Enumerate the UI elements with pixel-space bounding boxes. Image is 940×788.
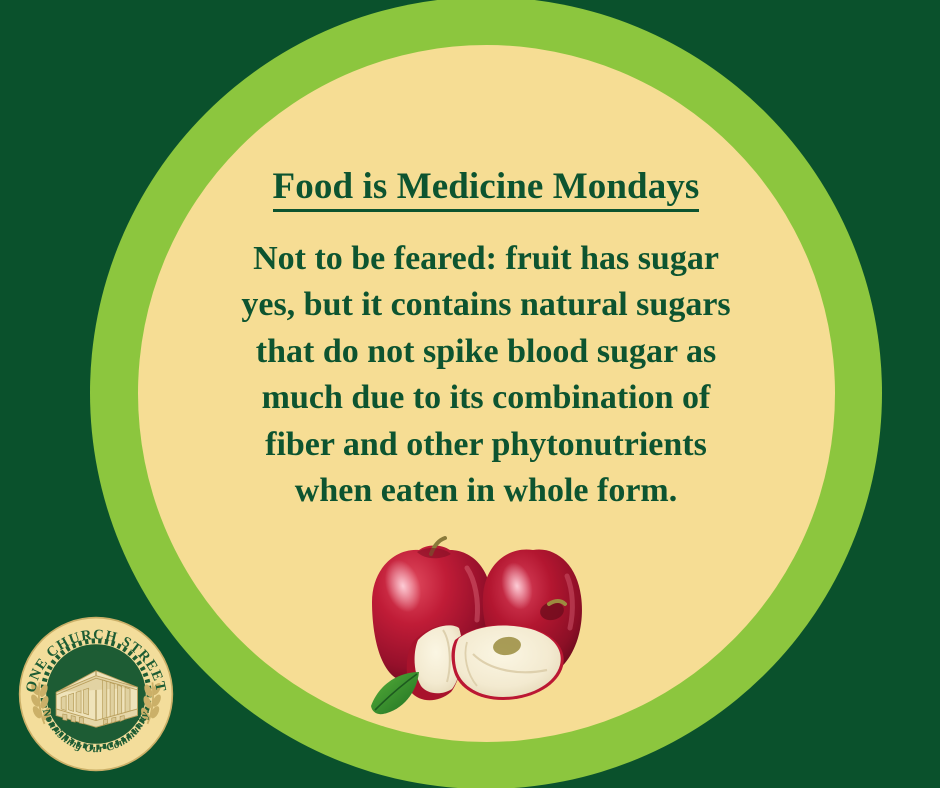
social-media-poster: Food is Medicine Mondays Not to be feare… [0,0,940,788]
apples-photo [355,524,625,724]
page-title: Food is Medicine Mondays [273,168,700,212]
body-line: that do not spike blood sugar as [164,329,808,376]
poster-body-text: Not to be feared: fruit has sugar yes, b… [150,236,822,515]
body-line: Not to be feared: fruit has sugar [164,236,808,283]
body-line: when eaten in whole form. [164,468,808,515]
poster-content: Food is Medicine Mondays Not to be feare… [150,168,822,515]
one-church-street-logo: ONE CHURCH STREET Nourishing Our Communi… [13,611,179,777]
body-line: much due to its combination of [164,375,808,422]
body-line: yes, but it contains natural sugars [164,282,808,329]
green-leaf [371,672,419,714]
apple-slice-large [451,625,563,700]
body-line: fiber and other phytonutrients [164,422,808,469]
